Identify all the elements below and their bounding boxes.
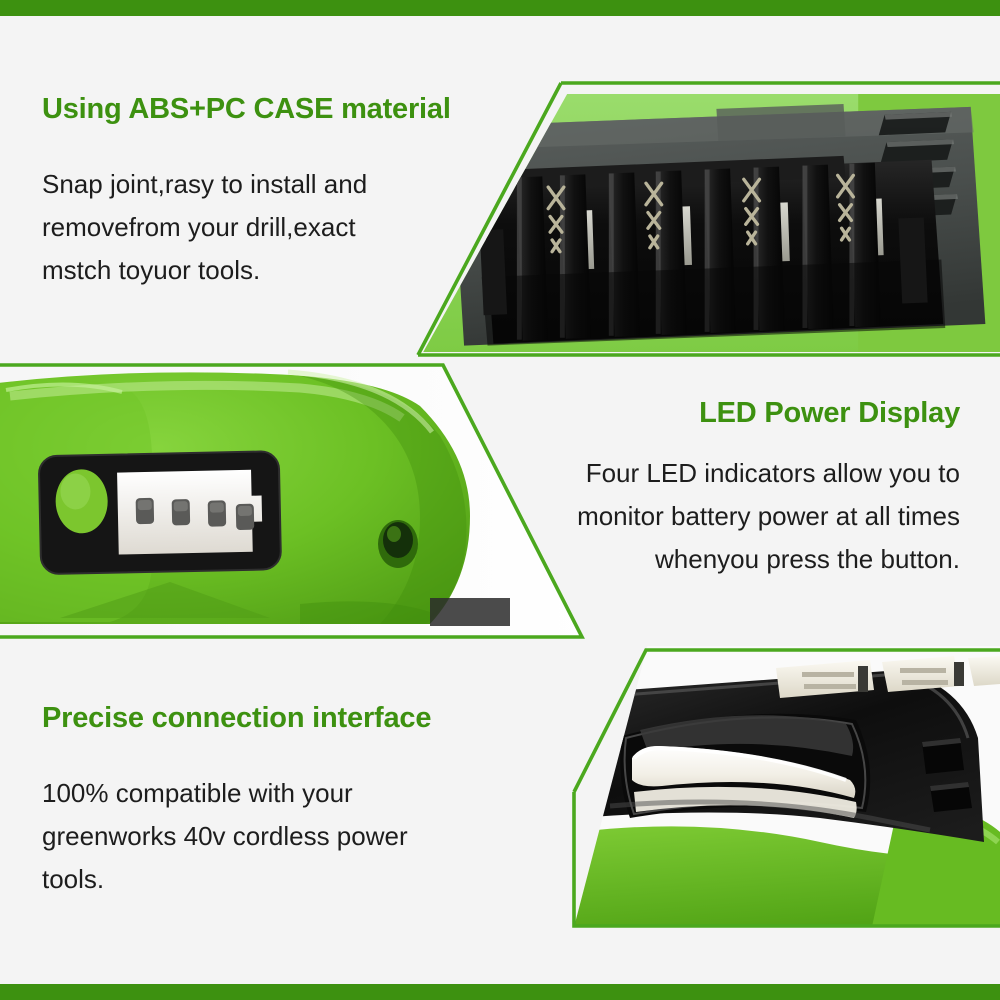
panel-led-display (0, 360, 592, 642)
top-accent-bar (0, 0, 1000, 16)
infographic-page: Using ABS+PC CASE material Snap joint,ra… (0, 0, 1000, 1000)
body-line: removefrom your drill,exact (42, 206, 462, 249)
section-heading-led-power-display: LED Power Display (699, 397, 960, 430)
body-line: 100% compatible with your (42, 772, 482, 815)
body-line: tools. (42, 858, 482, 901)
panel-connection-interface (570, 640, 1000, 932)
panel-border-outline (570, 640, 1000, 932)
body-line: mstch toyuor tools. (42, 249, 462, 292)
panel-battery-terminal (410, 76, 1000, 364)
bottom-accent-bar (0, 984, 1000, 1000)
panel-border-outline (0, 360, 592, 642)
section-heading-precise-connection-interface: Precise connection interface (42, 702, 431, 735)
section-heading-abs-pc-case: Using ABS+PC CASE material (42, 93, 451, 126)
body-line: greenworks 40v cordless power (42, 815, 482, 858)
section-body-abs-pc-case: Snap joint,rasy to install and removefro… (42, 163, 462, 292)
section-body-precise-connection-interface: 100% compatible with your greenworks 40v… (42, 772, 482, 901)
panel-border-outline (410, 76, 1000, 364)
body-line: Snap joint,rasy to install and (42, 163, 462, 206)
